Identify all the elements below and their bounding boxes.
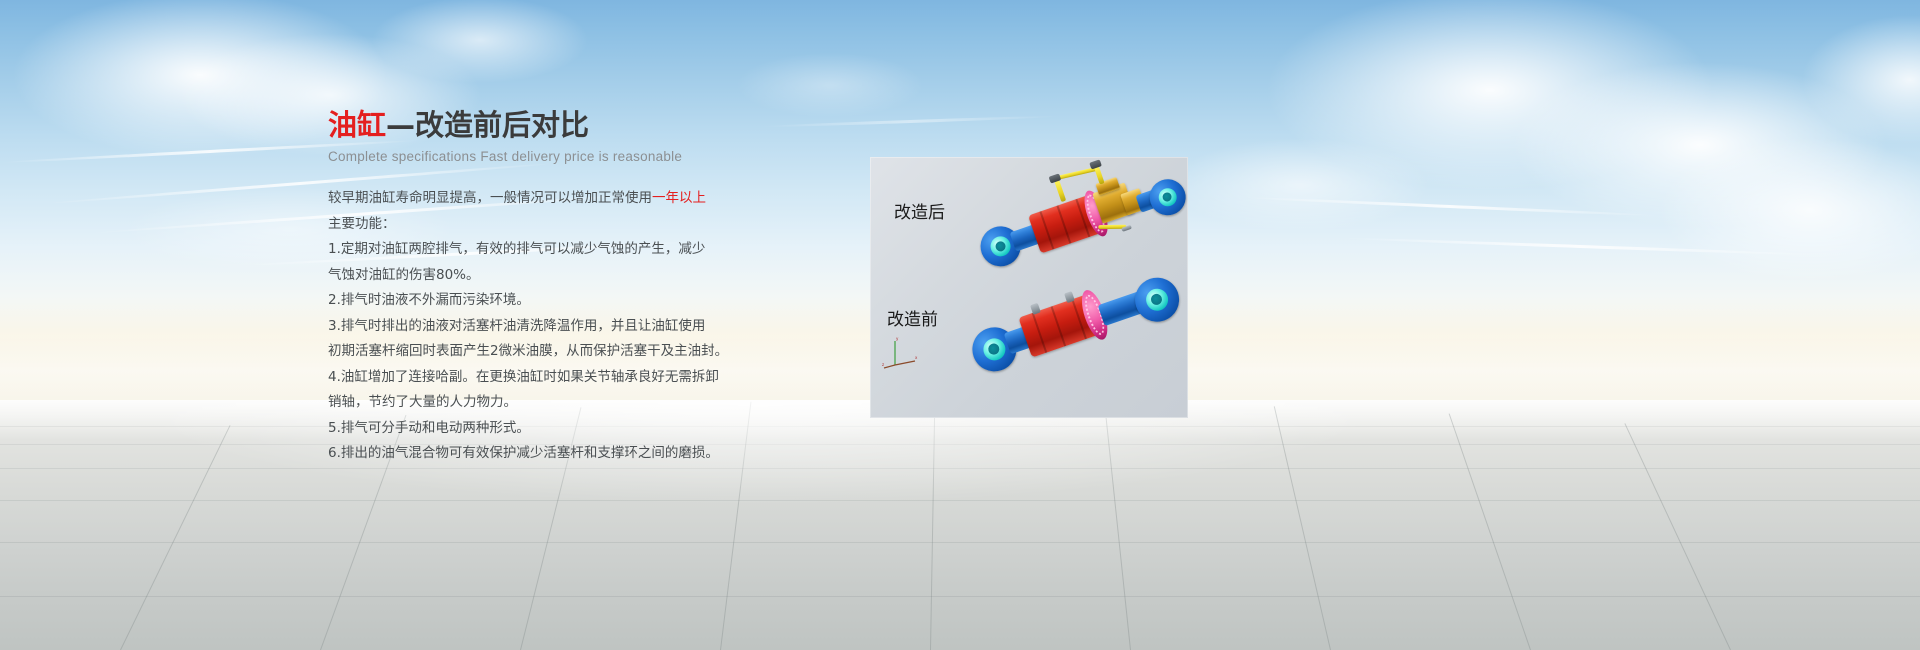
page-title-rest: —改造前后对比 — [386, 108, 589, 142]
banner-stage: 油缸—改造前后对比 Complete specifications Fast d… — [0, 0, 1920, 650]
feature-line-text: 气蚀对油缸的伤害80%。 — [328, 267, 480, 283]
page-title: 油缸—改造前后对比 — [328, 108, 758, 142]
banner-text-column: 油缸—改造前后对比 Complete specifications Fast d… — [328, 108, 758, 467]
label-after-modification: 改造后 — [894, 198, 945, 223]
feature-line: 6.排出的油气混合物可有效保护减少活塞杆和支撑环之间的磨损。 — [328, 441, 758, 467]
svg-text:x: x — [915, 355, 918, 360]
feature-line-text: 2.排气时油液不外漏而污染环境。 — [328, 292, 530, 308]
svg-text:y: y — [896, 336, 899, 341]
cloud-streak — [1240, 196, 1660, 217]
feature-line: 主要功能： — [328, 212, 758, 238]
feature-line: 5.排气可分手动和电动两种形式。 — [328, 416, 758, 442]
cloud-streak — [1340, 237, 1820, 257]
feature-line-text: 4.油缸增加了连接哈副。在更换油缸时如果关节轴承良好无需拆卸 — [328, 369, 719, 385]
feature-line-text: 主要功能： — [328, 216, 396, 232]
feature-line-text: 销轴，节约了大量的人力物力。 — [328, 394, 517, 410]
page-subtitle: Complete specifications Fast delivery pr… — [328, 149, 758, 164]
cloud-shape — [1180, 0, 1800, 230]
vent-tube-riser — [1094, 166, 1105, 185]
feature-line-text: 初期活塞杆缩回时表面产生2微米油膜，从而保护活塞干及主油封。 — [328, 343, 728, 359]
vent-valve-cap — [1089, 159, 1102, 169]
cloud-streak — [760, 115, 1060, 128]
feature-line-text: 较早期油缸寿命明显提高，一般情况可以增加正常使用 — [328, 190, 652, 206]
svg-text:z: z — [882, 362, 884, 367]
axis-triad-icon: y x z — [882, 335, 918, 369]
feature-line: 较早期油缸寿命明显提高，一般情况可以增加正常使用一年以上 — [328, 186, 758, 212]
feature-line-text: 1.定期对油缸两腔排气，有效的排气可以减少气蚀的产生，减少 — [328, 241, 705, 257]
feature-line: 气蚀对油缸的伤害80%。 — [328, 263, 758, 289]
feature-list: 较早期油缸寿命明显提高，一般情况可以增加正常使用一年以上 主要功能： 1.定期对… — [328, 186, 758, 467]
cloud-shape — [1600, 110, 1920, 310]
feature-line: 初期活塞杆缩回时表面产生2微米油膜，从而保护活塞干及主油封。 — [328, 339, 758, 365]
feature-line: 销轴，节约了大量的人力物力。 — [328, 390, 758, 416]
feature-line-highlight: 一年以上 — [652, 190, 706, 206]
feature-line: 2.排气时油液不外漏而污染环境。 — [328, 288, 758, 314]
feature-line-text: 5.排气可分手动和电动两种形式。 — [328, 420, 530, 436]
cloud-shape — [330, 0, 630, 100]
feature-line: 3.排气时排出的油液对活塞杆油清洗降温作用，并且让油缸使用 — [328, 314, 758, 340]
feature-line-text: 6.排出的油气混合物可有效保护减少活塞杆和支撑环之间的磨损。 — [328, 445, 719, 461]
label-before-modification: 改造前 — [887, 305, 938, 330]
vent-tube-riser — [1054, 180, 1066, 202]
page-title-highlight: 油缸 — [328, 108, 386, 142]
product-comparison-panel: 改造后 改造前 y x z — [870, 157, 1188, 418]
cloud-shape — [1760, 0, 1920, 170]
cloud-shape — [1440, 30, 1920, 260]
pavement-ground — [0, 400, 1920, 650]
feature-line-text: 3.排气时排出的油液对活塞杆油清洗降温作用，并且让油缸使用 — [328, 318, 705, 334]
feature-line: 4.油缸增加了连接哈副。在更换油缸时如果关节轴承良好无需拆卸 — [328, 365, 758, 391]
feature-line: 1.定期对油缸两腔排气，有效的排气可以减少气蚀的产生，减少 — [328, 237, 758, 263]
